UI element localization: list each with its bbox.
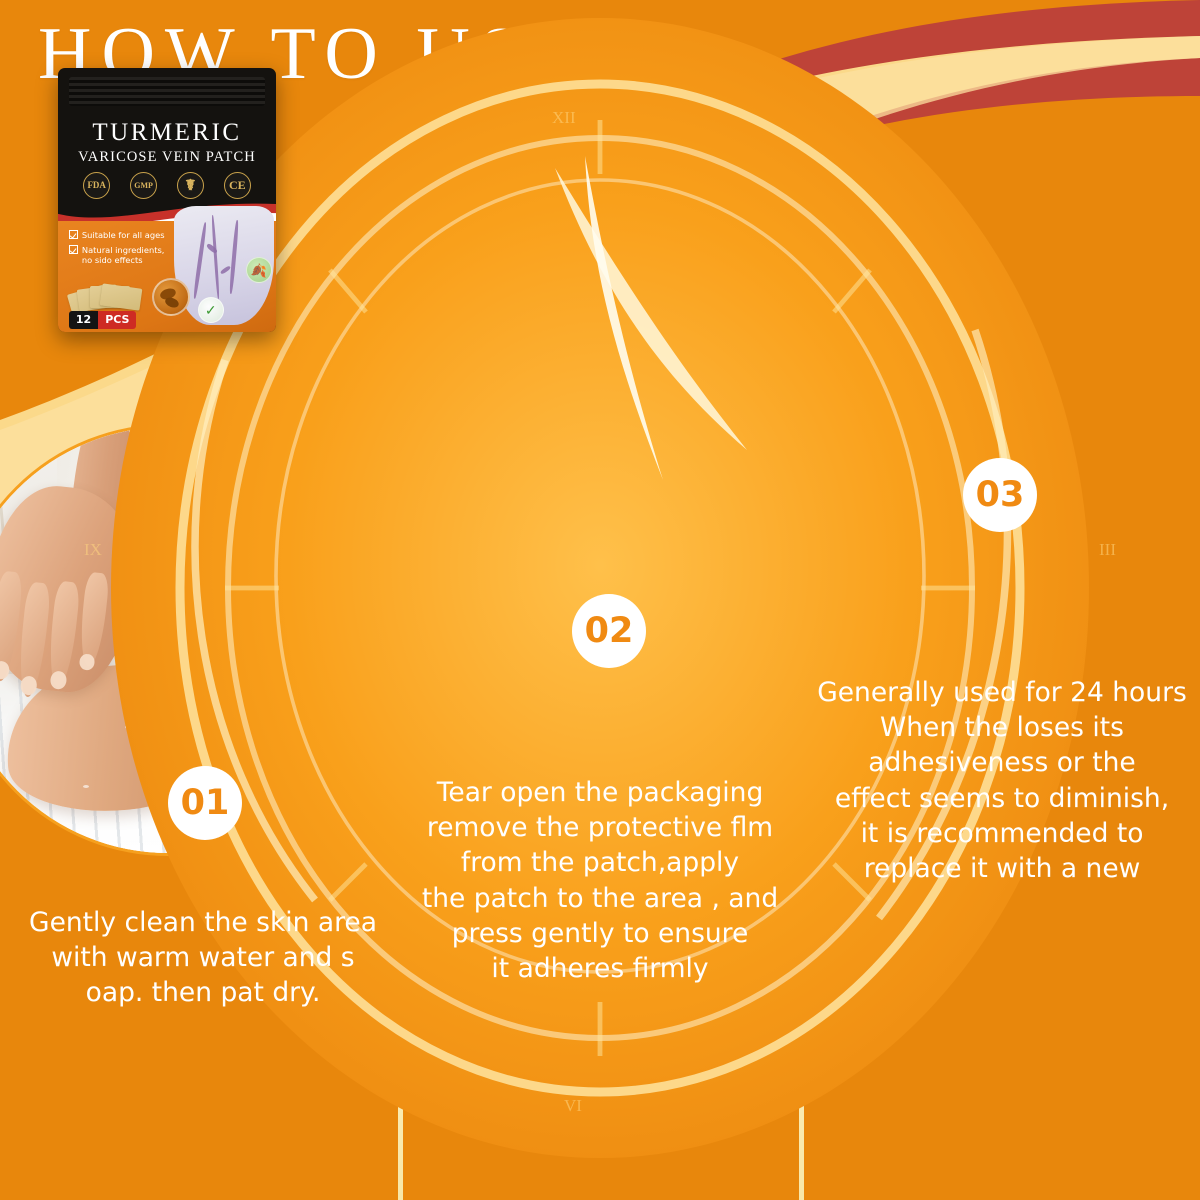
step-3-image-circle: XII III VI IX TURMERIC VARICOSE VEIN PAT… (0, 0, 330, 400)
gmp-badge-icon: GMP (130, 172, 157, 199)
package-count-badge: 12 PCS (69, 311, 137, 329)
fda-badge-icon: FDA (83, 172, 110, 199)
step-1-caption: Gently clean the skin area with warm wat… (8, 905, 398, 1011)
checkbox-icon (69, 230, 78, 239)
product-package-large: TURMERIC VARICOSE VEIN PATCH FDA GMP ☤ C… (58, 68, 276, 332)
caduceus-badge-icon: ☤ (177, 172, 204, 199)
step-1-number-badge: 01 (168, 766, 242, 840)
package-bullet-1: Suitable for all ages (69, 230, 165, 240)
package-product-name: VARICOSE VEIN PATCH (58, 149, 276, 166)
package-count-unit: PCS (98, 311, 136, 329)
package-bullets: Suitable for all ages Natural ingredient… (69, 230, 165, 265)
package-patch-fan (69, 283, 156, 312)
clock-numeral-VI: VI (564, 1096, 582, 1116)
package-lower-panel: Suitable for all ages Natural ingredient… (58, 221, 276, 332)
package-bullet-2-text: Natural ingredients, no sido effects (82, 245, 165, 265)
infographic-root: HOW TO USE (0, 0, 1200, 1200)
clock-numeral-III: III (1099, 540, 1116, 560)
checkbox-icon (69, 245, 78, 254)
package-bullet-1-text: Suitable for all ages (82, 230, 165, 240)
clock-numeral-IX: IX (84, 540, 102, 560)
step-2-number-badge: 02 (572, 594, 646, 668)
package-bullet-2: Natural ingredients, no sido effects (69, 245, 165, 265)
package-zipper (69, 77, 265, 106)
step-3-number-badge: 03 (963, 458, 1037, 532)
package-certification-badges: FDA GMP ☤ CE (73, 171, 261, 200)
leaf-badge-icon: 🍂 (246, 257, 272, 283)
clock-numeral-XII: XII (552, 108, 576, 128)
green-check-badge-icon: ✓ (198, 297, 224, 323)
ce-badge-icon: CE (224, 172, 251, 199)
package-count-number: 12 (69, 311, 98, 329)
package-brand: TURMERIC (58, 119, 276, 147)
step-3-caption: Generally used for 24 hours When the los… (806, 675, 1198, 886)
step-2-caption: Tear open the packaging remove the prote… (404, 775, 796, 986)
turmeric-root-icon (152, 278, 190, 316)
